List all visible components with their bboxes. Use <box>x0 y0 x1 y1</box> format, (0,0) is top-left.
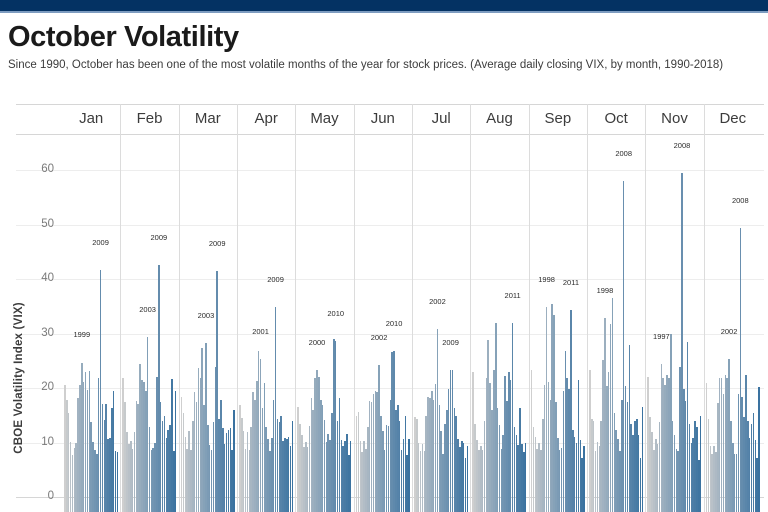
peak-annotation: 2009 <box>92 239 109 247</box>
page-subtitle: Since 1990, October has been one of the … <box>8 58 760 73</box>
facet-apr: Apr20092001 <box>237 104 295 512</box>
bar-group <box>645 135 703 512</box>
peak-annotation: 2008 <box>674 142 691 150</box>
bar-group <box>179 135 237 512</box>
facet-separator <box>295 104 296 512</box>
facet-dec: Dec20082002 <box>704 104 762 512</box>
bar <box>700 416 702 512</box>
peak-annotation: 2009 <box>151 234 168 242</box>
bar <box>175 391 177 512</box>
facet-jan: Jan20091999 <box>62 104 120 512</box>
peak-annotation: 2010 <box>327 310 344 318</box>
bar-group <box>704 135 762 512</box>
facet-label-jun: Jun <box>354 107 412 131</box>
bar-group <box>470 135 528 512</box>
peak-annotation: 2002 <box>429 298 446 306</box>
bar <box>408 439 410 512</box>
facet-nov: Nov20081997 <box>645 104 703 512</box>
peak-annotation: 2009 <box>267 276 284 284</box>
y-axis-label: CBOE Volatility Index (VIX) <box>13 263 25 493</box>
peak-annotation: 2008 <box>732 197 749 205</box>
peak-annotation: 2009 <box>209 240 226 248</box>
peak-annotation: 2003 <box>198 312 215 320</box>
bar-group <box>295 135 353 512</box>
facet-separator <box>237 104 238 512</box>
peak-annotation: 1998 <box>538 276 555 284</box>
facet-separator <box>179 104 180 512</box>
banner-rule <box>0 11 768 13</box>
facet-separator <box>704 104 705 512</box>
bar-group <box>120 135 178 512</box>
bar <box>758 387 760 512</box>
peak-annotation: 1998 <box>597 287 614 295</box>
bar-group <box>354 135 412 512</box>
facet-jun: Jun20102002 <box>354 104 412 512</box>
facet-label-dec: Dec <box>704 107 762 131</box>
facet-label-mar: Mar <box>179 107 237 131</box>
facet-label-sep: Sep <box>529 107 587 131</box>
peak-annotation: 2000 <box>309 339 326 347</box>
facet-separator <box>412 104 413 512</box>
bar <box>117 452 119 512</box>
facet-oct: Oct20081998 <box>587 104 645 512</box>
facet-separator <box>120 104 121 512</box>
facet-separator <box>645 104 646 512</box>
facet-label-may: May <box>295 107 353 131</box>
facet-label-feb: Feb <box>120 107 178 131</box>
bar <box>642 407 644 512</box>
chart-plot-area: 0102030405060 CBOE Volatility Index (VIX… <box>0 104 768 512</box>
bar <box>467 446 469 512</box>
facet-separator <box>587 104 588 512</box>
facet-separator <box>470 104 471 512</box>
bar <box>525 443 527 512</box>
peak-annotation: 2011 <box>563 279 579 287</box>
peak-annotation: 2010 <box>386 320 403 328</box>
y-tick-label: 50 <box>14 219 54 230</box>
facet-separator <box>354 104 355 512</box>
facet-label-aug: Aug <box>470 107 528 131</box>
chart-page: October Volatility Since 1990, October h… <box>0 0 768 512</box>
facet-container: Jan20091999Feb20092003Mar20092003Apr2009… <box>62 104 762 512</box>
facet-label-jan: Jan <box>62 107 120 131</box>
peak-annotation: 2002 <box>721 328 738 336</box>
top-banner <box>0 0 768 11</box>
facet-separator <box>529 104 530 512</box>
bar <box>233 410 235 512</box>
peak-annotation: 2001 <box>252 328 269 336</box>
facet-sep: Sep20111998 <box>529 104 587 512</box>
facet-jul: Jul20022009 <box>412 104 470 512</box>
facet-may: May20102000 <box>295 104 353 512</box>
peak-annotation: 2009 <box>442 339 459 347</box>
facet-label-jul: Jul <box>412 107 470 131</box>
bar <box>350 441 352 512</box>
bar-group <box>237 135 295 512</box>
bar-group <box>62 135 120 512</box>
peak-annotation: 2003 <box>139 306 156 314</box>
facet-feb: Feb20092003 <box>120 104 178 512</box>
page-title: October Volatility <box>8 20 748 54</box>
facet-label-apr: Apr <box>237 107 295 131</box>
peak-annotation: 2008 <box>615 150 632 158</box>
bar-group <box>412 135 470 512</box>
bar <box>583 446 585 512</box>
facet-label-oct: Oct <box>587 107 645 131</box>
facet-aug: Aug2011 <box>470 104 528 512</box>
y-tick-label: 60 <box>14 164 54 175</box>
peak-annotation: 2002 <box>371 334 388 342</box>
peak-annotation: 1999 <box>73 331 90 339</box>
facet-mar: Mar20092003 <box>179 104 237 512</box>
facet-label-nov: Nov <box>645 107 703 131</box>
peak-annotation: 2011 <box>505 292 521 300</box>
bar-group <box>529 135 587 512</box>
bar-group <box>587 135 645 512</box>
bar <box>292 421 294 512</box>
peak-annotation: 1997 <box>653 333 670 341</box>
